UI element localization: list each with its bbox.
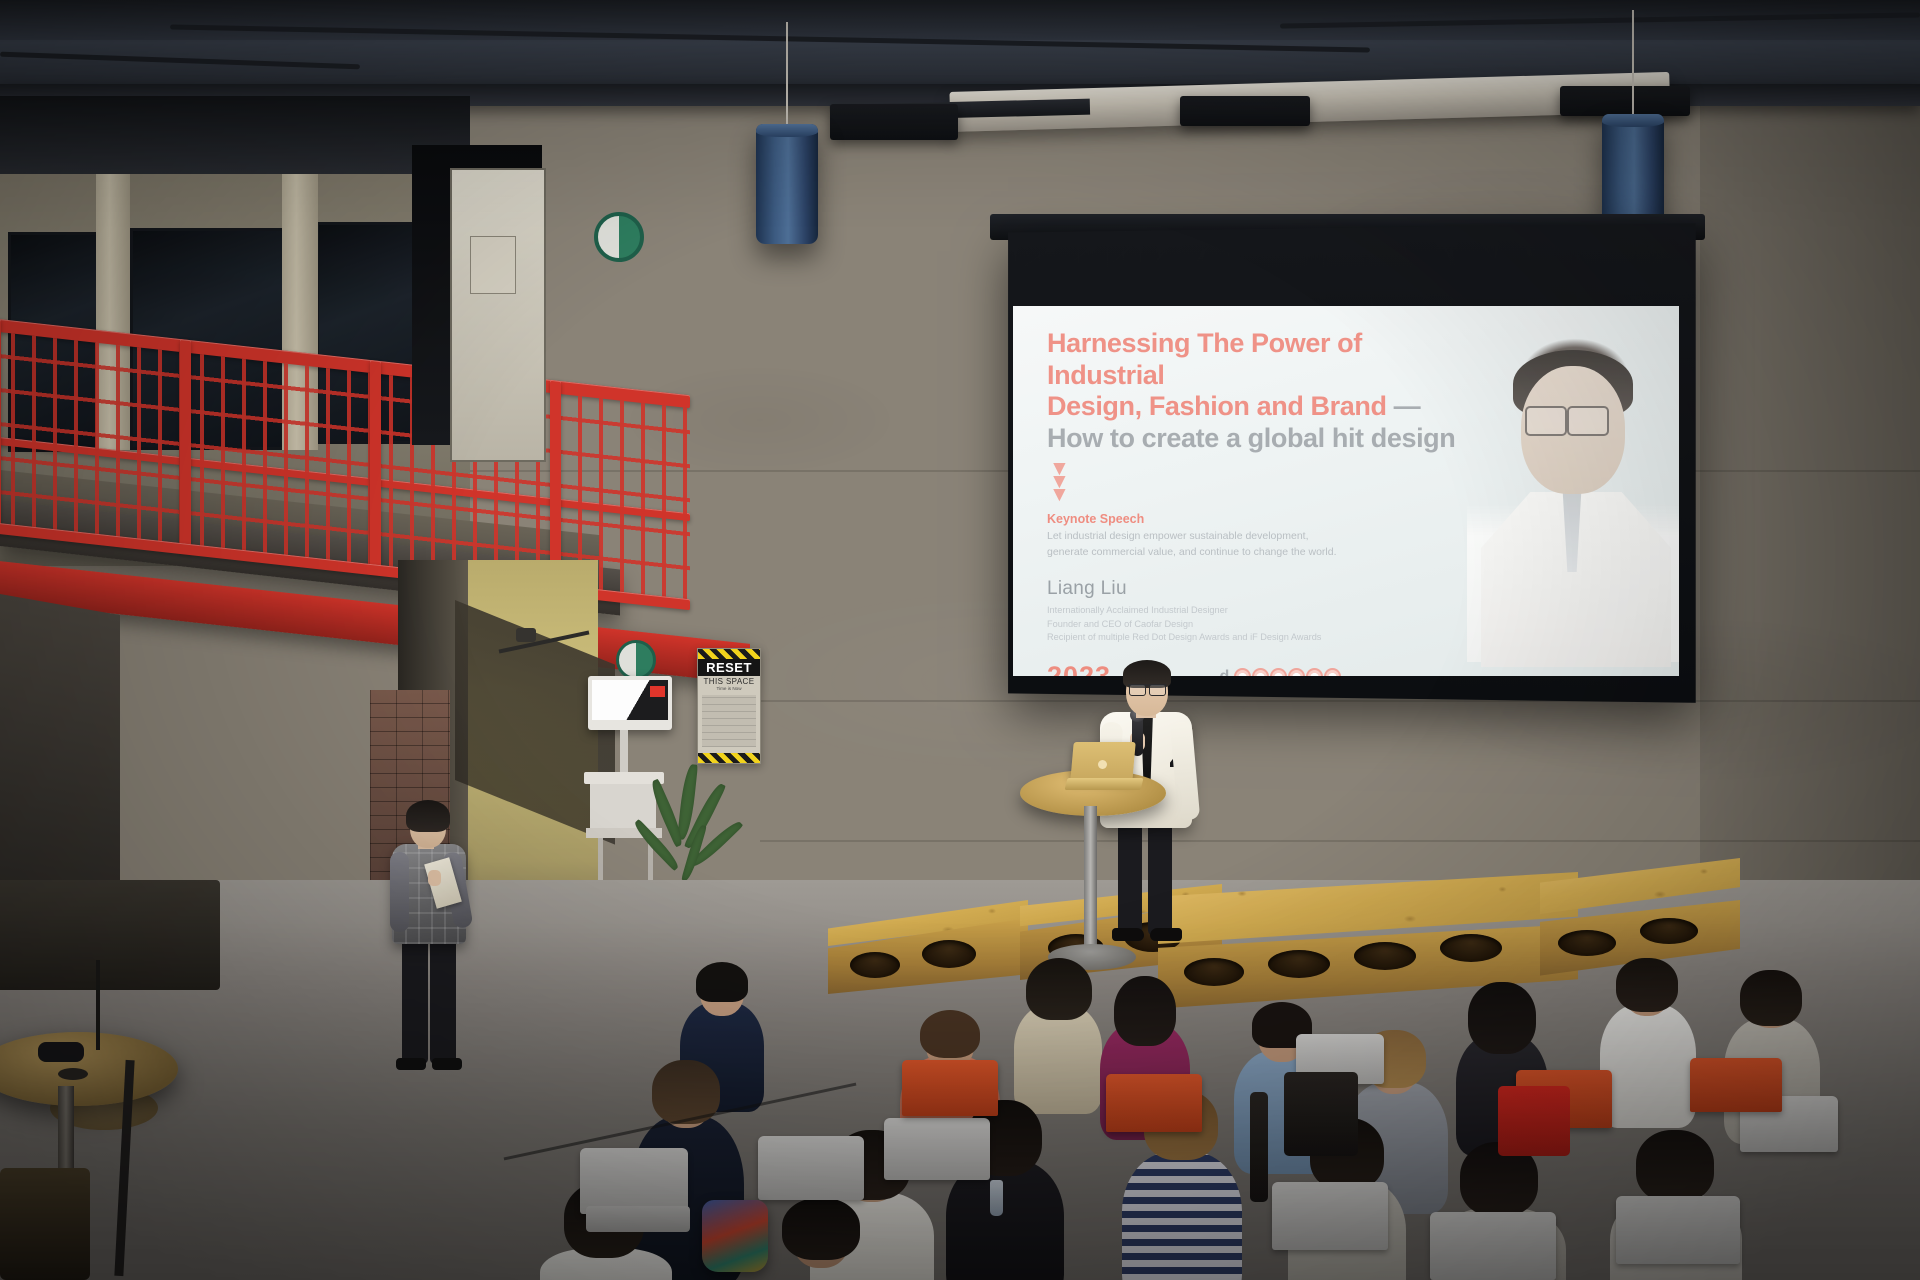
- presenter-shoe: [1150, 928, 1182, 941]
- audience-hair: [1468, 982, 1536, 1054]
- chair-dark-leg: [1250, 1092, 1268, 1202]
- speaker-portrait-photo: [1467, 332, 1679, 662]
- audience-torso: [1600, 1004, 1696, 1128]
- audience-hair: [1616, 958, 1678, 1012]
- railing-post: [180, 339, 191, 552]
- moderator-leg: [430, 936, 456, 1064]
- audience-member: [1010, 962, 1106, 1112]
- monitor-accent-block: [650, 686, 665, 697]
- riser-hole: [1440, 934, 1502, 962]
- riser-hole: [922, 940, 976, 968]
- slide-title: Harnessing The Power of Industrial Desig…: [1047, 328, 1477, 454]
- slide-title-line-2: Design, Fashion and Brand —: [1047, 391, 1477, 423]
- chair-orange[interactable]: [902, 1060, 998, 1116]
- audience-hair: [1636, 1130, 1714, 1202]
- backpack[interactable]: [702, 1200, 768, 1272]
- presenter-leg: [1118, 812, 1142, 936]
- audience-torso: [1122, 1152, 1242, 1280]
- audience-torso: [1014, 1004, 1102, 1114]
- presenter-shoe: [1112, 928, 1144, 941]
- moderator-shoe: [396, 1058, 426, 1070]
- moderator-hair: [406, 800, 450, 832]
- riser-hole: [1354, 942, 1416, 970]
- dschool-dot-icon: [1324, 668, 1341, 676]
- mezzanine-soffit: [0, 96, 470, 174]
- audience-hair: [1740, 970, 1802, 1026]
- chair-red[interactable]: [1498, 1086, 1570, 1156]
- audience-hair: [1114, 976, 1176, 1046]
- counter-cable: [96, 960, 100, 1050]
- riser-hole: [1558, 930, 1616, 956]
- pendant-light: [756, 124, 818, 244]
- monitor-mount: [620, 730, 628, 772]
- ceiling-speaker-box: [830, 104, 958, 140]
- moderator-hand: [428, 870, 441, 886]
- projection-screen: Harnessing The Power of Industrial Desig…: [1013, 306, 1679, 676]
- presenter-glasses-icon: [1129, 684, 1146, 696]
- chair-grey-seat[interactable]: [586, 1206, 690, 1232]
- slide-title-line-1: Harnessing The Power of Industrial: [1047, 328, 1477, 391]
- riser-hole: [1640, 918, 1698, 944]
- chair-grey[interactable]: [884, 1118, 990, 1180]
- av-cart-body: [590, 784, 656, 828]
- scene-root: Harnessing The Power of Industrial Desig…: [0, 0, 1920, 1280]
- chair-grey[interactable]: [1430, 1212, 1556, 1280]
- reset-sign-diagram: [702, 695, 756, 747]
- chair-grey[interactable]: [1272, 1182, 1388, 1250]
- presentation-slide: Harnessing The Power of Industrial Desig…: [1013, 306, 1679, 676]
- railing-post: [370, 360, 381, 573]
- reset-sign-subtitle: THIS SPACE: [698, 676, 760, 686]
- dschool-dot-icon: [1306, 668, 1323, 676]
- audience-hair: [782, 1198, 860, 1260]
- wall-shadow: [1700, 96, 1920, 896]
- dschool-dot-icon: [1252, 668, 1269, 676]
- audience-member: [756, 1198, 886, 1280]
- door-sign: [470, 236, 516, 294]
- slide-subtitle: Let industrial design empower sustainabl…: [1047, 529, 1377, 559]
- podium-column: [1084, 806, 1097, 958]
- water-bottle[interactable]: [990, 1180, 1003, 1216]
- ceiling-speaker-box: [1180, 96, 1310, 126]
- restroom-sign: [616, 640, 656, 680]
- corridor-door[interactable]: [450, 168, 546, 462]
- chair-grey[interactable]: [580, 1148, 688, 1214]
- slide-title-dash: —: [1394, 391, 1421, 421]
- chair-dark[interactable]: [1284, 1072, 1358, 1156]
- audience-hair: [920, 1010, 980, 1058]
- mezzanine-underside: [0, 594, 120, 915]
- foreground-stool[interactable]: [0, 1168, 90, 1280]
- laptop-base[interactable]: [1065, 778, 1144, 790]
- hazard-stripe: [698, 649, 760, 659]
- dschool-dot-icon: [1270, 668, 1287, 676]
- dschool-logo-mark: d.: [1219, 668, 1341, 676]
- chair-orange[interactable]: [1106, 1074, 1202, 1132]
- presenter-leg: [1148, 812, 1172, 936]
- pendant-cord: [1632, 10, 1634, 118]
- moderator-leg: [402, 936, 428, 1064]
- riser-hole: [1268, 950, 1330, 978]
- dschool-dot-icon: [1234, 668, 1251, 676]
- pendant-cord: [786, 22, 788, 128]
- reset-sign-title: RESET: [698, 659, 760, 676]
- dschool-logo: d. HASSO PLATTNER Institute of Design at…: [1219, 668, 1341, 676]
- slide-title-line-3: How to create a global hit design: [1047, 423, 1477, 455]
- riser-hole: [850, 952, 900, 978]
- moderator-arm: [390, 852, 409, 932]
- chair-grey[interactable]: [758, 1136, 864, 1200]
- reset-this-space-sign: RESET THIS SPACE Time is Now: [697, 648, 761, 764]
- chair-orange[interactable]: [1690, 1058, 1782, 1112]
- dschool-dot-icon: [1288, 668, 1305, 676]
- reset-sign-caption: Time is Now: [698, 686, 760, 691]
- presenter-glasses-icon: [1149, 684, 1166, 696]
- railing-post: [0, 318, 1, 531]
- portrait-glasses-icon: [1567, 406, 1609, 436]
- dschool-logo-d: d.: [1219, 668, 1233, 676]
- slide-subtitle-line-2: generate commercial value, and continue …: [1047, 545, 1377, 560]
- ceiling-speaker-box: [1560, 86, 1690, 116]
- moderator-shoe: [432, 1058, 462, 1070]
- boom-joint: [516, 628, 536, 642]
- hazard-stripe: [698, 753, 760, 763]
- restroom-sign: [594, 212, 644, 262]
- table-grommet: [58, 1068, 88, 1080]
- table-object[interactable]: [38, 1042, 84, 1062]
- audience-hair: [696, 962, 748, 1002]
- moderator: [378, 800, 478, 1090]
- portrait-glasses-icon: [1525, 406, 1567, 436]
- laptop-logo-icon: [1098, 760, 1107, 769]
- foreground-counter: [0, 880, 220, 990]
- chair-grey[interactable]: [1616, 1196, 1740, 1264]
- slide-subtitle-line-1: Let industrial design empower sustainabl…: [1047, 529, 1377, 544]
- audience-hair: [1026, 958, 1092, 1020]
- riser-hole: [1184, 958, 1244, 986]
